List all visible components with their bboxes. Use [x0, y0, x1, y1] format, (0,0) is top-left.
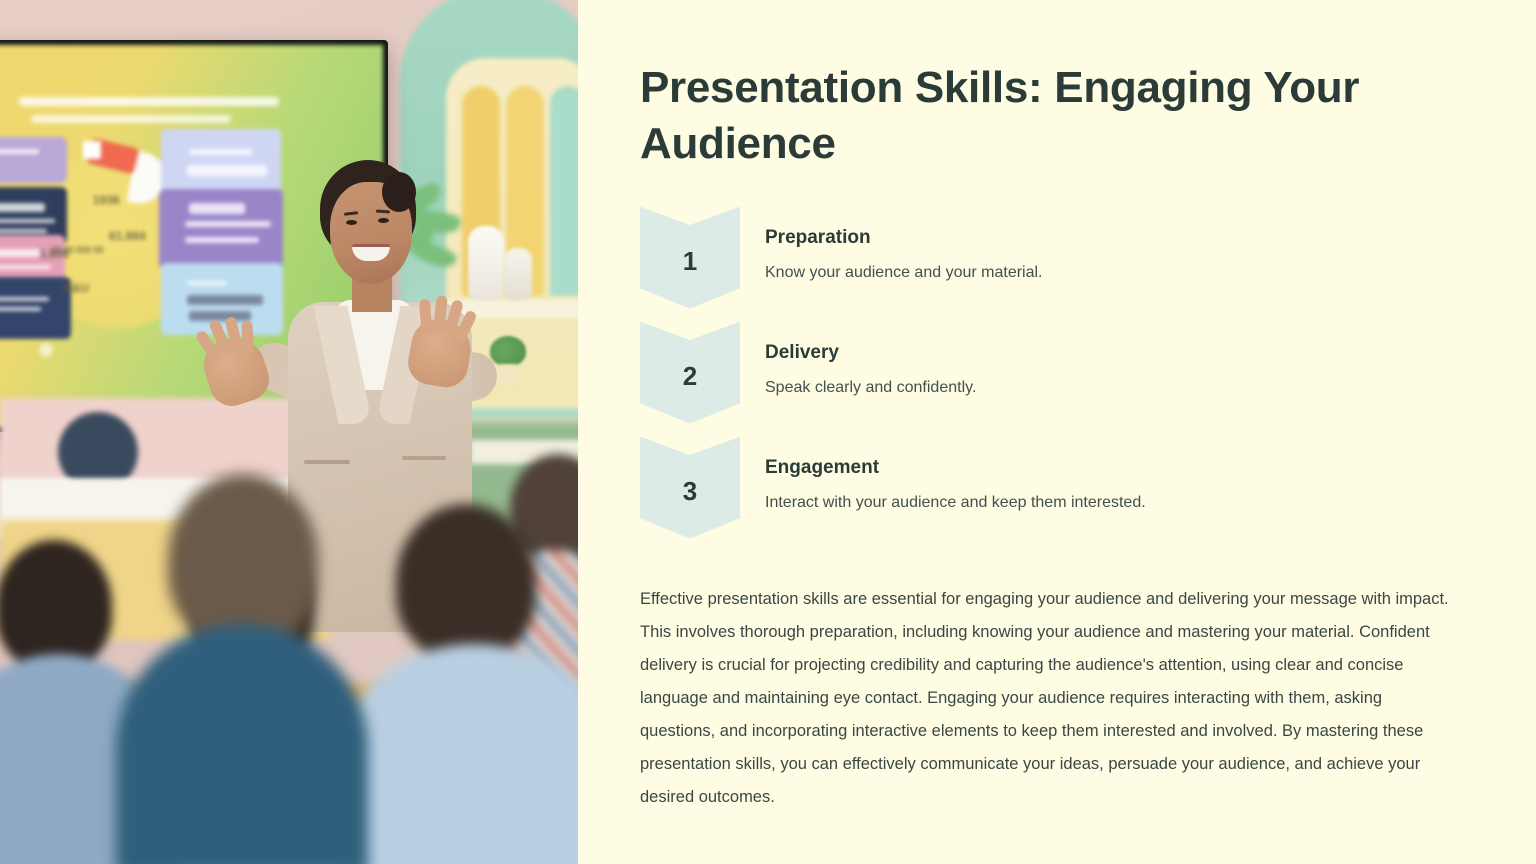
step-text-2: Delivery Speak clearly and confidently.	[740, 322, 976, 399]
chart-value-label: 1936	[93, 193, 120, 207]
shelf-arch	[550, 86, 578, 296]
slide-text-line	[0, 249, 41, 257]
audience-foreground	[0, 434, 578, 864]
finger	[419, 299, 432, 334]
slide-text-line	[0, 297, 49, 301]
body-paragraph: Effective presentation skills are essent…	[640, 583, 1460, 814]
audience-body	[340, 644, 578, 864]
audience-head	[0, 540, 112, 670]
slide-text-line	[0, 265, 51, 269]
slide-text-line	[0, 229, 47, 233]
slide-text-line	[189, 203, 245, 214]
content-panel: Presentation Skills: Engaging Your Audie…	[578, 0, 1536, 864]
audience-member	[350, 504, 578, 864]
audience-head	[396, 504, 536, 660]
presenter-eye	[378, 218, 389, 223]
step-description: Interact with your audience and keep the…	[765, 492, 1146, 514]
step-title: Delivery	[765, 342, 976, 364]
step-item-3: 3 Engagement Interact with your audience…	[640, 437, 1460, 539]
step-item-1: 1 Preparation Know your audience and you…	[640, 207, 1460, 309]
slide-text-line	[189, 311, 251, 321]
step-description: Know your audience and your material.	[765, 262, 1043, 284]
slide-text-line	[189, 149, 253, 155]
finger	[241, 320, 254, 355]
step-text-1: Preparation Know your audience and your …	[740, 207, 1043, 284]
audience-body	[116, 624, 368, 864]
slide-text-line	[185, 237, 259, 243]
slide-text-line	[0, 219, 55, 223]
step-title: Preparation	[765, 227, 1043, 249]
chart-value-label: R&U	[63, 281, 89, 295]
step-number: 2	[683, 361, 697, 392]
chart-value-label: 61.884	[109, 229, 146, 243]
audience-member	[110, 474, 370, 864]
steps-list: 1 Preparation Know your audience and you…	[640, 207, 1460, 539]
step-number: 3	[683, 476, 697, 507]
slide-logo	[39, 343, 53, 357]
step-description: Speak clearly and confidently.	[765, 377, 976, 399]
step-text-3: Engagement Interact with your audience a…	[740, 437, 1146, 514]
slide-callout-box	[0, 137, 67, 183]
slide: 1936 20 00 000 00 61.884 3.806 R&U	[0, 0, 1536, 864]
step-number: 1	[683, 246, 697, 277]
slide-text-line	[0, 203, 45, 212]
slide-subtitle-bar	[31, 115, 231, 123]
chart-value-label: 3.806	[39, 247, 69, 261]
step-item-2: 2 Delivery Speak clearly and confidently…	[640, 322, 1460, 424]
chevron-badge-1: 1	[640, 207, 740, 309]
presentation-photo: 1936 20 00 000 00 61.884 3.806 R&U	[0, 0, 578, 864]
chevron-badge-3: 3	[640, 437, 740, 539]
audience-head	[168, 474, 318, 646]
slide-text-line	[0, 149, 39, 154]
slide-text-line	[187, 281, 227, 285]
slide-title-bar	[19, 97, 279, 106]
chart-segment-white	[83, 141, 101, 159]
chevron-badge-2: 2	[640, 322, 740, 424]
step-title: Engagement	[765, 457, 1146, 479]
page-title: Presentation Skills: Engaging Your Audie…	[640, 60, 1440, 173]
photo-scene: 1936 20 00 000 00 61.884 3.806 R&U	[0, 0, 578, 864]
presenter-hair-bun	[382, 172, 416, 212]
presenter-eye	[346, 220, 357, 225]
slide-text-line	[0, 307, 41, 311]
